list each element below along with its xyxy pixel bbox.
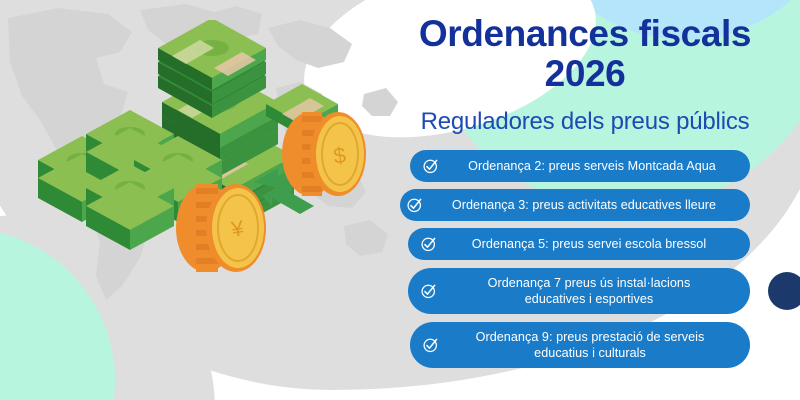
title-line-2: 2026 bbox=[385, 54, 785, 94]
page-subtitle: Reguladores dels preus públics bbox=[385, 108, 785, 136]
circled-check-icon bbox=[420, 282, 438, 300]
title-line-1: Ordenances fiscals bbox=[385, 14, 785, 54]
ordinance-label: Ordenança 5: preus servei escola bressol bbox=[438, 232, 750, 256]
content-column: Ordenances fiscals 2026 Reguladores dels… bbox=[385, 0, 800, 400]
ordinance-row: Ordenança 3: preus activitats educatives… bbox=[385, 189, 800, 221]
ordinance-label: Ordenança 9: preus prestació de serveis … bbox=[440, 325, 750, 365]
ordinance-item-3[interactable]: Ordenança 3: preus activitats educatives… bbox=[400, 189, 750, 221]
decorative-navy-circle bbox=[768, 272, 800, 310]
page-title: Ordenances fiscals 2026 bbox=[385, 14, 785, 94]
ordinance-item-5[interactable]: Ordenança 5: preus servei escola bressol bbox=[408, 228, 750, 260]
coin-yen: ¥ bbox=[176, 184, 266, 272]
circled-check-icon bbox=[420, 235, 438, 253]
ordinance-list: Ordenança 2: preus serveis Montcada Aqua… bbox=[385, 150, 800, 368]
ordinance-label: Ordenança 2: preus serveis Montcada Aqua bbox=[440, 154, 750, 178]
ordinance-label: Ordenança 3: preus activitats educatives… bbox=[424, 193, 750, 217]
ordinance-row: Ordenança 7 preus ús instal·lacions educ… bbox=[385, 268, 800, 314]
ordinance-row: Ordenança 5: preus servei escola bressol bbox=[385, 228, 800, 260]
ordinance-item-9[interactable]: Ordenança 9: preus prestació de serveis … bbox=[410, 322, 750, 368]
ordinance-item-7[interactable]: Ordenança 7 preus ús instal·lacions educ… bbox=[408, 268, 750, 314]
ordinance-row: Ordenança 2: preus serveis Montcada Aqua bbox=[385, 150, 800, 182]
money-illustration: ¥ $ bbox=[10, 20, 400, 310]
ordinance-label: Ordenança 7 preus ús instal·lacions educ… bbox=[438, 271, 750, 311]
ordinance-row: Ordenança 9: preus prestació de serveis … bbox=[385, 322, 800, 368]
coin-dollar: $ bbox=[282, 112, 366, 196]
ordinance-item-2[interactable]: Ordenança 2: preus serveis Montcada Aqua bbox=[410, 150, 750, 182]
circled-check-icon bbox=[422, 336, 440, 354]
circled-check-icon bbox=[422, 157, 440, 175]
poster-canvas: ¥ $ Ordenances fiscals 2026 Regu bbox=[0, 0, 800, 400]
circled-check-icon bbox=[406, 196, 424, 214]
